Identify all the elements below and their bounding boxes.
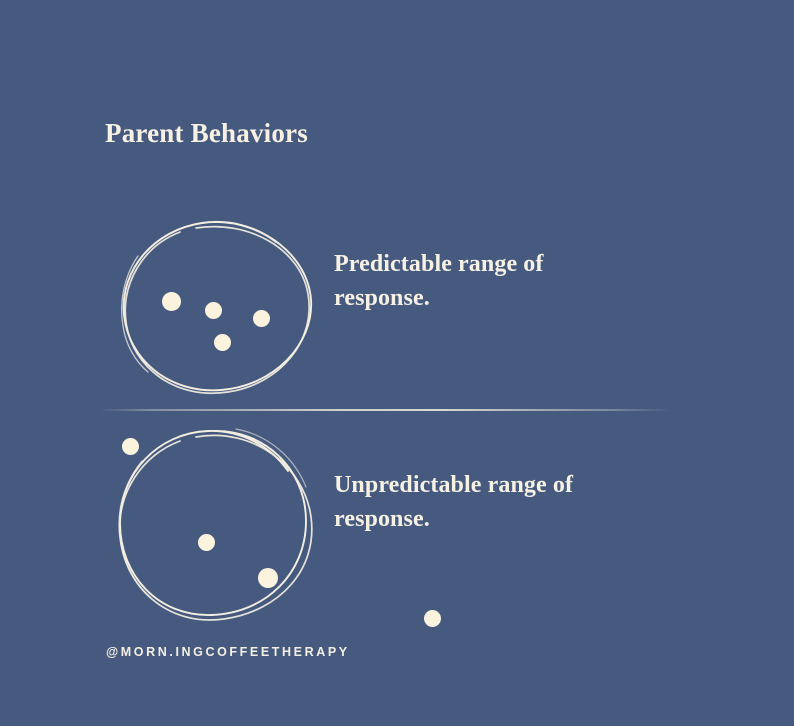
caption-unpredictable: Unpredictable range of response. (334, 468, 654, 536)
section-divider (100, 409, 670, 411)
dot-inside-lower (214, 334, 231, 351)
caption-predictable: Predictable range of response. (334, 247, 634, 315)
social-graphic-canvas: Parent Behaviors Predictable range of re… (0, 0, 794, 726)
account-handle: @MORN.INGCOFFEETHERAPY (106, 645, 350, 659)
page-title: Parent Behaviors (105, 118, 308, 149)
sketch-circle-unpredictable-icon (108, 425, 323, 625)
section-unpredictable: Unpredictable range of response. (0, 420, 794, 635)
dot-inside-right (253, 310, 270, 327)
dot-inside-left (162, 292, 181, 311)
dot-inside-center (198, 534, 215, 551)
section-predictable: Predictable range of response. (0, 210, 794, 400)
dot-on-edge (258, 568, 278, 588)
dot-outside-upper-left (122, 438, 139, 455)
dot-inside-center (205, 302, 222, 319)
dot-outside-lower-right (424, 610, 441, 627)
